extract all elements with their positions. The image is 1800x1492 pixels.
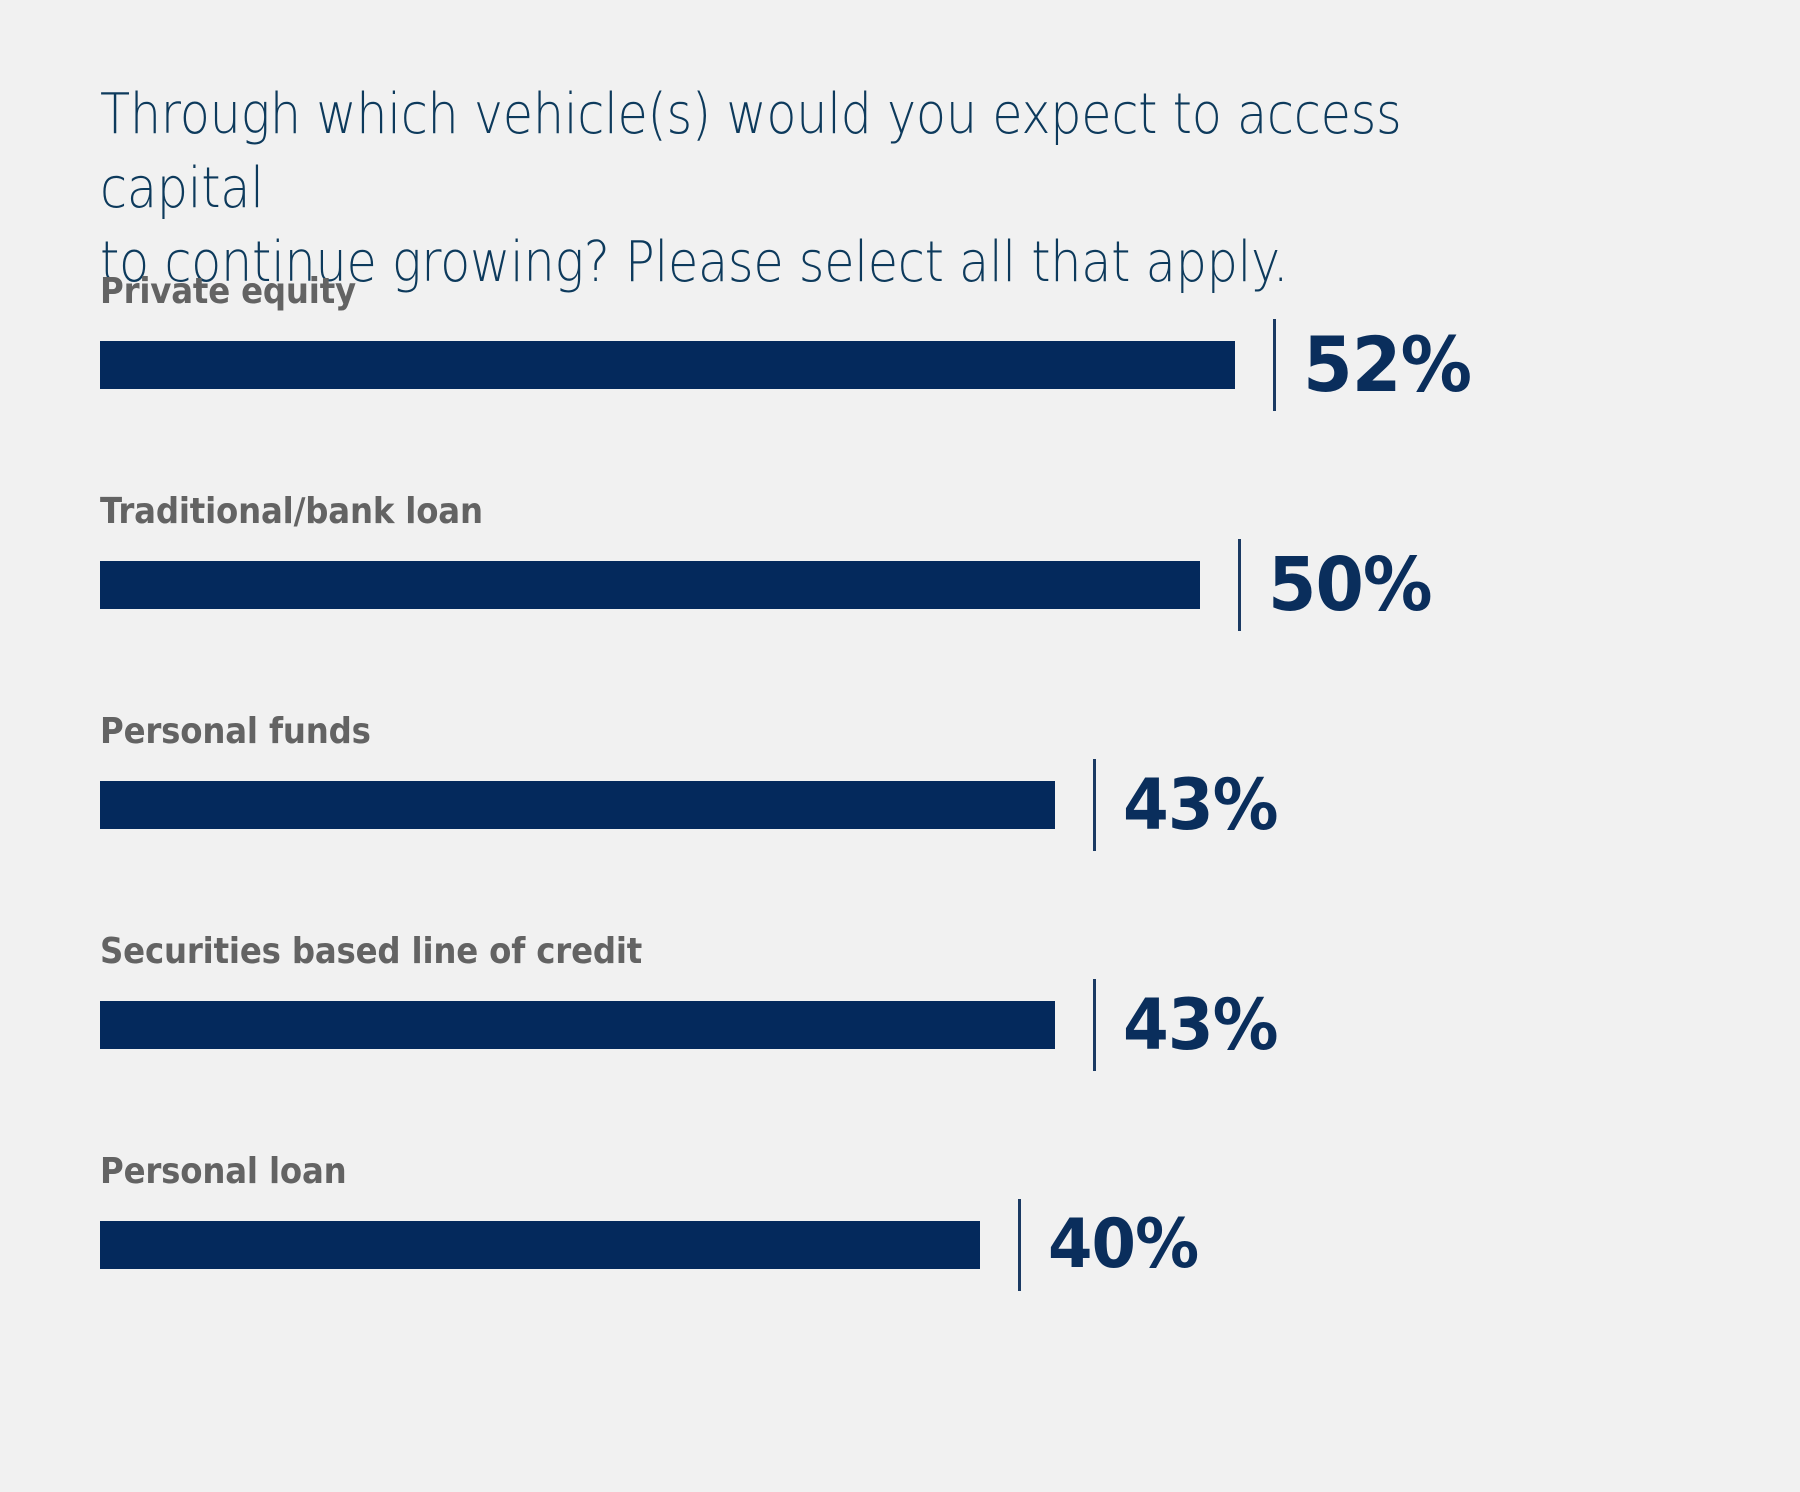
bar-fill — [100, 781, 1055, 829]
bar-value-divider — [1238, 539, 1241, 631]
bar-row: Private equity 52% — [0, 272, 1800, 492]
chart-title-line-1: Through which vehicle(s) would you expec… — [100, 82, 1401, 221]
bar-category-label: Securities based line of credit — [100, 932, 642, 972]
bar-fill — [100, 1001, 1055, 1049]
chart-page: Through which vehicle(s) would you expec… — [0, 0, 1800, 1492]
bar-value-label: 43% — [1123, 757, 1278, 853]
bar-fill — [100, 341, 1235, 389]
bar-value-label: 40% — [1048, 1197, 1198, 1293]
bar-value-divider — [1273, 319, 1276, 411]
bar-value-label: 43% — [1123, 977, 1278, 1073]
bar-category-label: Personal loan — [100, 1152, 347, 1192]
bar-track: 43% — [100, 781, 1700, 829]
bar-row: Traditional/bank loan 50% — [0, 492, 1800, 712]
bar-track: 43% — [100, 1001, 1700, 1049]
bar-track: 40% — [100, 1221, 1700, 1269]
bar-track: 50% — [100, 561, 1700, 609]
bar-fill — [100, 561, 1200, 609]
bar-row: Securities based line of credit 43% — [0, 932, 1800, 1152]
bar-value-divider — [1093, 759, 1096, 851]
bar-value-label: 52% — [1303, 317, 1471, 413]
bar-value-divider — [1093, 979, 1096, 1071]
bar-track: 52% — [100, 341, 1700, 389]
chart-title: Through which vehicle(s) would you expec… — [100, 78, 1543, 300]
bar-value-label: 50% — [1268, 537, 1432, 633]
bar-category-label: Personal funds — [100, 712, 371, 752]
bar-fill — [100, 1221, 980, 1269]
bar-row: Personal loan 40% — [0, 1152, 1800, 1372]
bar-value-divider — [1018, 1199, 1021, 1291]
bar-chart: Private equity 52% Traditional/bank loan… — [0, 272, 1800, 1372]
bar-row: Personal funds 43% — [0, 712, 1800, 932]
bar-category-label: Private equity — [100, 272, 356, 312]
bar-category-label: Traditional/bank loan — [100, 492, 483, 532]
